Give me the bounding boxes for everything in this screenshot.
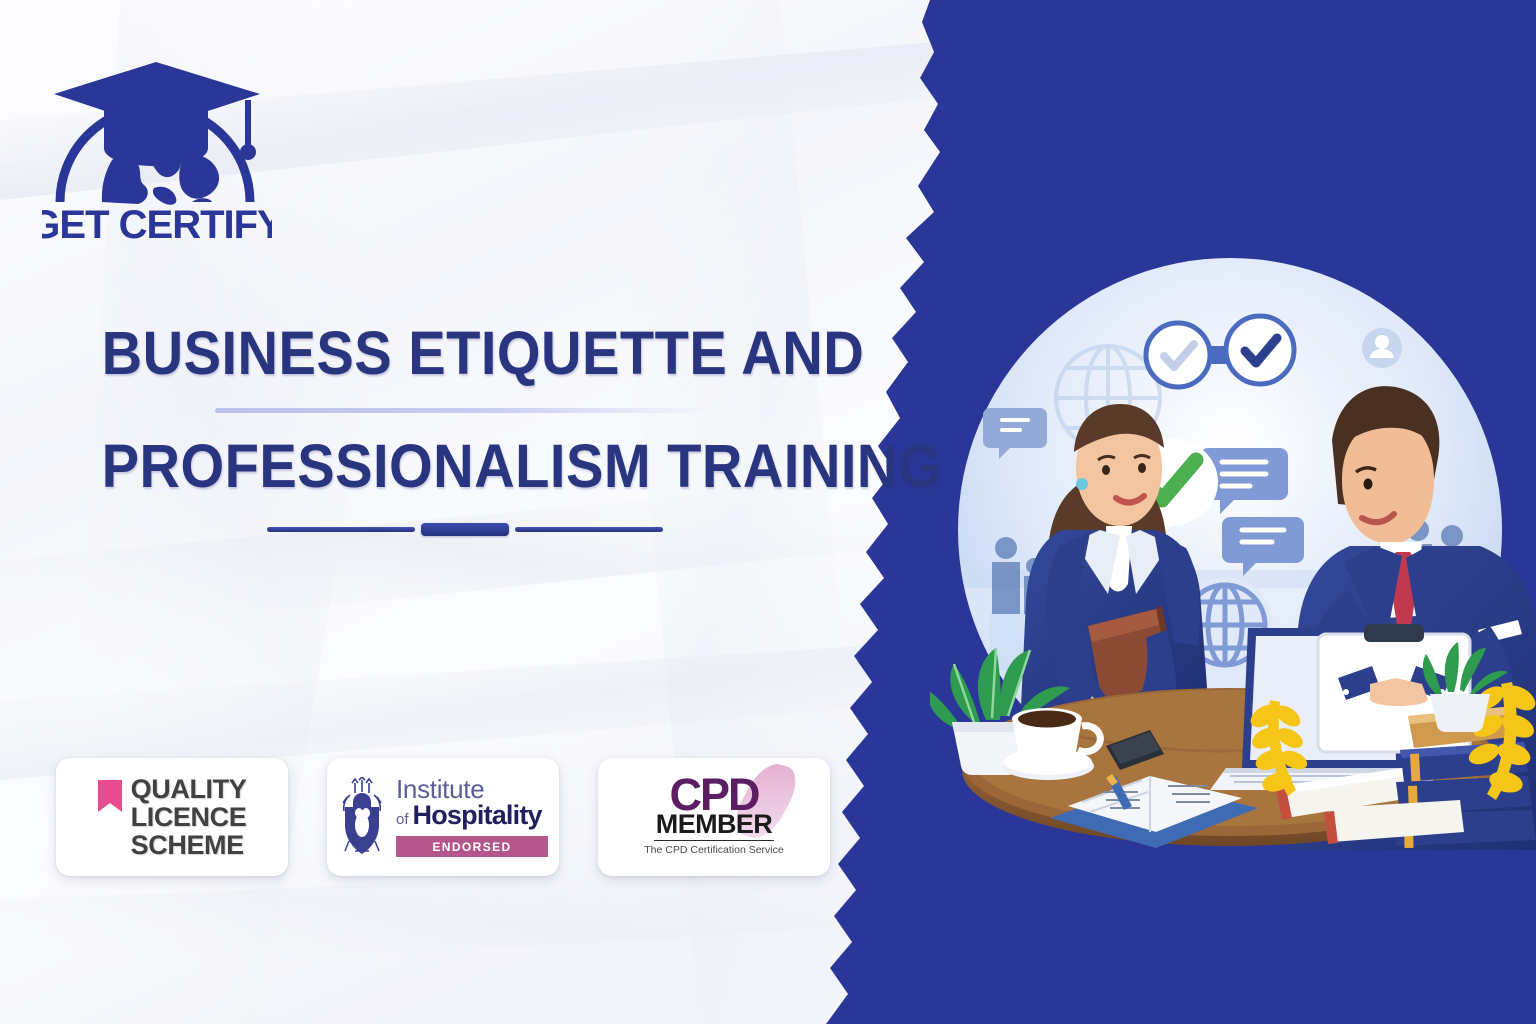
user-avatar-icon bbox=[1362, 328, 1402, 368]
logo-wordmark: GET CERTIFY bbox=[42, 203, 272, 247]
ioh-endorsed-label: ENDORSED bbox=[432, 840, 511, 854]
divider-segment-center bbox=[421, 523, 509, 536]
graduation-cap-globe-icon: GET CERTIFY bbox=[42, 52, 272, 252]
headline-line-2: PROFESSIONALISM TRAINING bbox=[102, 435, 829, 497]
divider-segment-right bbox=[515, 527, 663, 532]
cpd-subtitle: The CPD Certification Service bbox=[639, 844, 789, 857]
bookmark-ribbon-icon bbox=[98, 780, 122, 812]
ioh-word-of: of bbox=[396, 812, 409, 827]
divider-segment-left bbox=[267, 527, 415, 532]
cpd-member-label: MEMBER bbox=[656, 812, 772, 838]
headline-rule bbox=[215, 408, 715, 413]
badge-quality-licence-scheme[interactable]: QUALITY LICENCE SCHEME bbox=[56, 758, 288, 876]
headline-block: BUSINESS ETIQUETTE AND PROFESSIONALISM T… bbox=[70, 322, 860, 536]
qls-line-3: SCHEME bbox=[131, 831, 247, 859]
heraldic-crest-icon bbox=[335, 777, 389, 857]
headline-divider bbox=[70, 523, 860, 536]
brand-logo[interactable]: GET CERTIFY bbox=[42, 52, 272, 252]
course-banner: GET CERTIFY BUSINESS ETIQUETTE AND PROFE… bbox=[0, 0, 1536, 1024]
qls-line-1: QUALITY bbox=[131, 775, 247, 803]
cpd-underline bbox=[654, 840, 774, 842]
ioh-line-institute: Institute bbox=[396, 777, 484, 802]
hero-illustration bbox=[930, 230, 1536, 850]
accreditation-badges: QUALITY LICENCE SCHEME bbox=[56, 758, 830, 876]
ioh-line-hospitality: Hospitality bbox=[413, 802, 542, 829]
headline-line-1: BUSINESS ETIQUETTE AND bbox=[102, 322, 829, 384]
badge-cpd-member[interactable]: CPD MEMBER The CPD Certification Service bbox=[598, 758, 830, 876]
ioh-endorsed-ribbon: ENDORSED bbox=[396, 836, 548, 857]
qls-line-2: LICENCE bbox=[131, 803, 247, 831]
badge-institute-of-hospitality[interactable]: Institute of Hospitality ENDORSED bbox=[327, 758, 559, 876]
